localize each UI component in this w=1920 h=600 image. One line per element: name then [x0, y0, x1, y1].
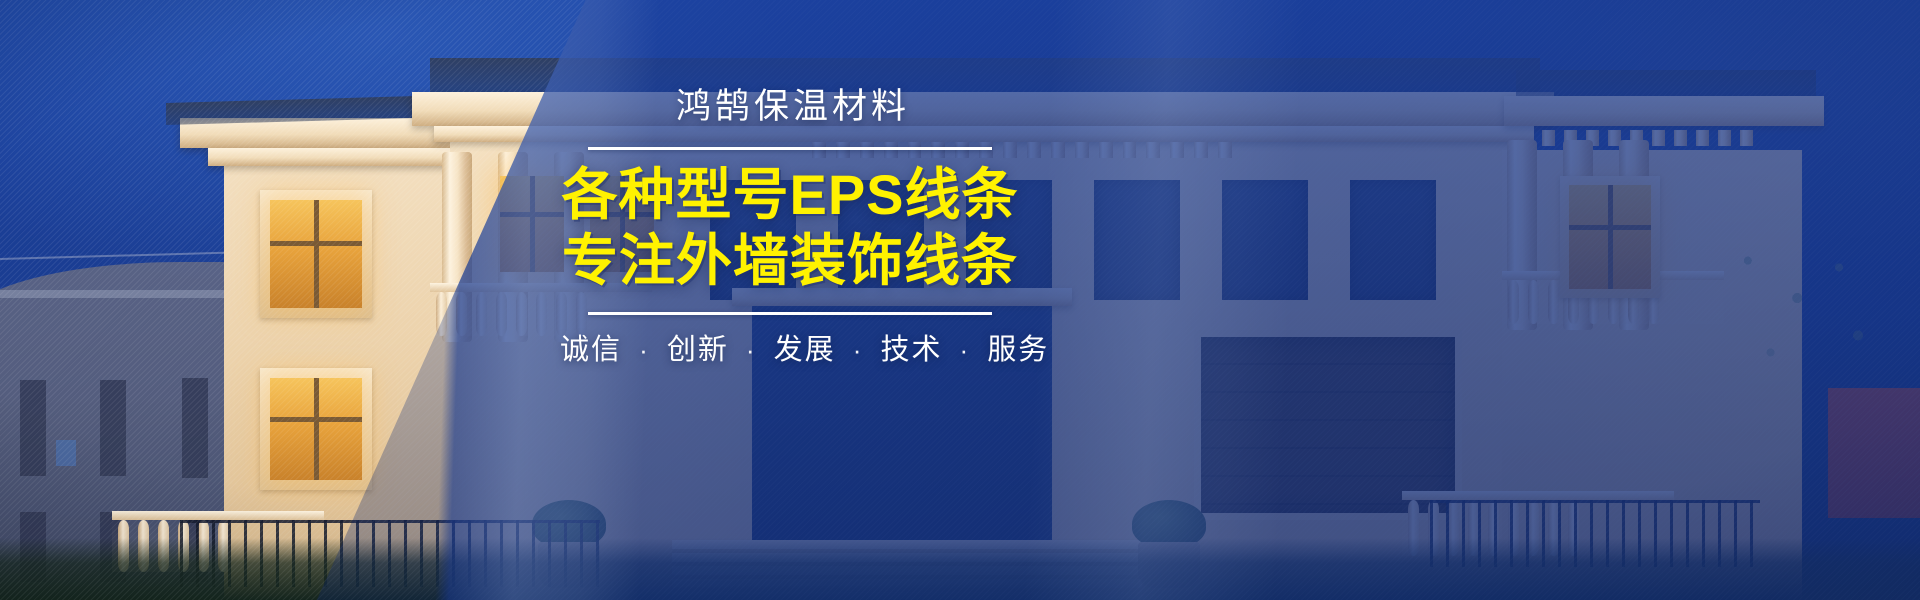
divider-top	[588, 147, 992, 150]
tagline-separator: ·	[632, 335, 657, 365]
tagline-separator: ·	[739, 335, 764, 365]
headline-line-2: 专注外墙装饰线条	[560, 228, 1020, 294]
tagline: 诚信 · 创新 · 发展 · 技术 · 服务	[560, 333, 1020, 368]
tagline-item-1: 创新	[667, 334, 729, 366]
tagline-item-3: 技术	[880, 334, 942, 366]
tagline-separator: ·	[953, 335, 978, 365]
tagline-separator: ·	[846, 335, 871, 365]
tagline-item-0: 诚信	[560, 334, 622, 366]
banner-text-block: 鸿鹄保温材料 各种型号EPS线条 专注外墙装饰线条 诚信 · 创新 · 发展 ·…	[560, 88, 1020, 367]
headline-line-1: 各种型号EPS线条	[560, 162, 1020, 228]
tagline-item-4: 服务	[987, 334, 1049, 366]
hero-banner: 鸿鹄保温材料 各种型号EPS线条 专注外墙装饰线条 诚信 · 创新 · 发展 ·…	[0, 0, 1920, 600]
headline-group: 各种型号EPS线条 专注外墙装饰线条	[560, 162, 1020, 294]
brand-subtitle: 鸿鹄保温材料	[566, 88, 1020, 127]
tagline-item-2: 发展	[774, 334, 836, 366]
divider-bottom	[588, 312, 992, 315]
